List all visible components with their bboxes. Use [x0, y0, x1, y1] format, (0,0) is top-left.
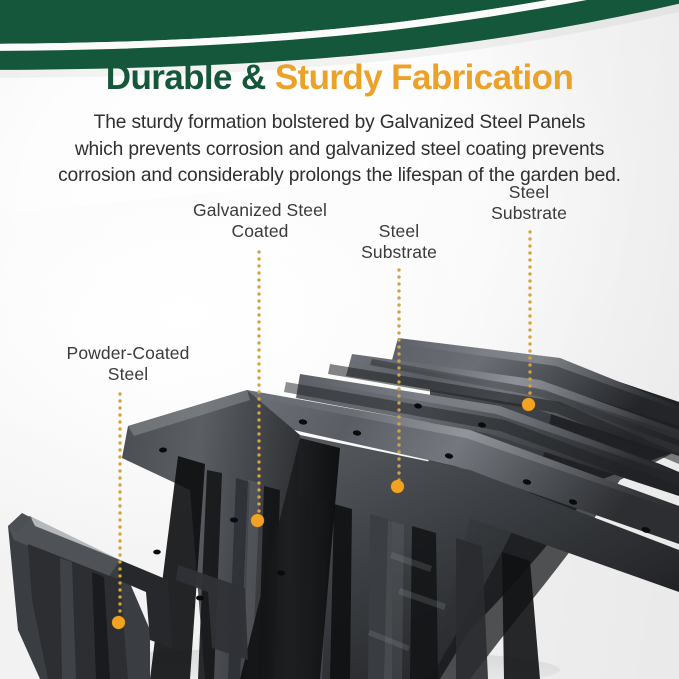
page-title: Durable & Sturdy Fabrication [0, 58, 679, 98]
callout-end-dot-steel-substrate-right [522, 398, 535, 411]
callout-label-powder-coated-steel: Powder-Coated Steel [28, 343, 228, 385]
callout-leader-line-galvanized-steel-coated [257, 250, 261, 518]
page-title-part-amber: Sturdy Fabrication [275, 58, 573, 97]
callout-3-line-1: Steel [459, 182, 599, 203]
callout-end-dot-steel-substrate-middle [391, 480, 404, 493]
subtitle-line-1: The sturdy formation bolstered by Galvan… [6, 110, 673, 137]
callout-2-line-1: Steel [329, 221, 469, 242]
callout-end-dot-powder-coated-steel [112, 616, 125, 629]
callout-1-line-1: Galvanized Steel [160, 200, 360, 221]
callout-leader-line-steel-substrate-right [528, 230, 532, 402]
page-subtitle: The sturdy formation bolstered by Galvan… [6, 110, 673, 190]
page-title-part-green: Durable & [106, 58, 266, 97]
callout-leader-line-steel-substrate-middle [397, 268, 401, 484]
callout-0-line-2: Steel [28, 364, 228, 385]
callout-leader-line-powder-coated-steel [118, 392, 122, 620]
infographic-canvas: Durable & Sturdy Fabrication The sturdy … [0, 0, 679, 679]
callout-label-steel-substrate-right: Steel Substrate [459, 182, 599, 224]
subtitle-line-2: which prevents corrosion and galvanized … [6, 137, 673, 164]
callout-label-steel-substrate-middle: Steel Substrate [329, 221, 469, 263]
callout-2-line-2: Substrate [329, 242, 469, 263]
callout-3-line-2: Substrate [459, 203, 599, 224]
callout-end-dot-galvanized-steel-coated [251, 514, 264, 527]
callout-0-line-1: Powder-Coated [28, 343, 228, 364]
